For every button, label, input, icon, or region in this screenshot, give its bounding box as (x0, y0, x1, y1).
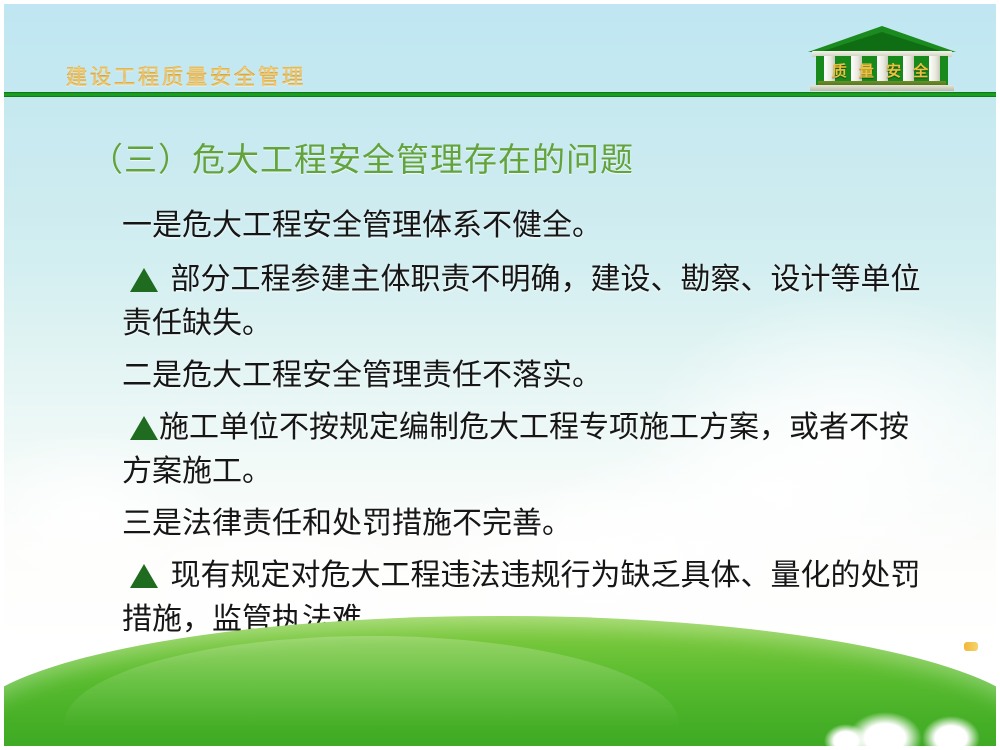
body-heading-1: 一是危大工程安全管理体系不健全。 (122, 204, 922, 248)
body-heading-2: 二是危大工程安全管理责任不落实。 (122, 354, 922, 398)
header-title: 建设工程质量安全管理 (66, 61, 306, 91)
body-heading-2-text: 二是危大工程安全管理责任不落实。 (122, 359, 602, 392)
triangle-bullet-icon (130, 564, 158, 588)
body-heading-1-text: 一是危大工程安全管理体系不健全。 (122, 209, 602, 242)
quality-safety-building-logo: 质 量 安 全 (808, 26, 956, 96)
logo-roof-inner-icon (820, 32, 944, 52)
slide-body: 一是危大工程安全管理体系不健全。 部分工程参建主体职责不明确，建设、勘察、设计等… (122, 204, 922, 650)
logo-label: 质 量 安 全 (816, 60, 948, 81)
triangle-bullet-icon (130, 416, 158, 440)
body-heading-3-text: 三是法律责任和处罚措施不完善。 (122, 507, 572, 540)
body-bullet-2: 施工单位不按规定编制危大工程专项施工方案，或者不按方案施工。 (122, 406, 922, 494)
body-bullet-2-text: 施工单位不按规定编制危大工程专项施工方案，或者不按方案施工。 (122, 411, 909, 488)
slide-title: （三）危大工程安全管理存在的问题 (90, 133, 634, 181)
body-bullet-1-text: 部分工程参建主体职责不明确，建设、勘察、设计等单位责任缺失。 (122, 263, 921, 340)
logo-base (810, 85, 954, 91)
body-heading-3: 三是法律责任和处罚措施不完善。 (122, 502, 922, 546)
distant-light-speck (964, 642, 978, 651)
triangle-bullet-icon (130, 268, 158, 292)
presentation-slide: 建设工程质量安全管理 质 量 安 全 （三）危大工程安全管理存在的问题 一是危大… (0, 0, 1000, 750)
body-bullet-1: 部分工程参建主体职责不明确，建设、勘察、设计等单位责任缺失。 (122, 258, 922, 346)
grass-field (4, 616, 996, 746)
